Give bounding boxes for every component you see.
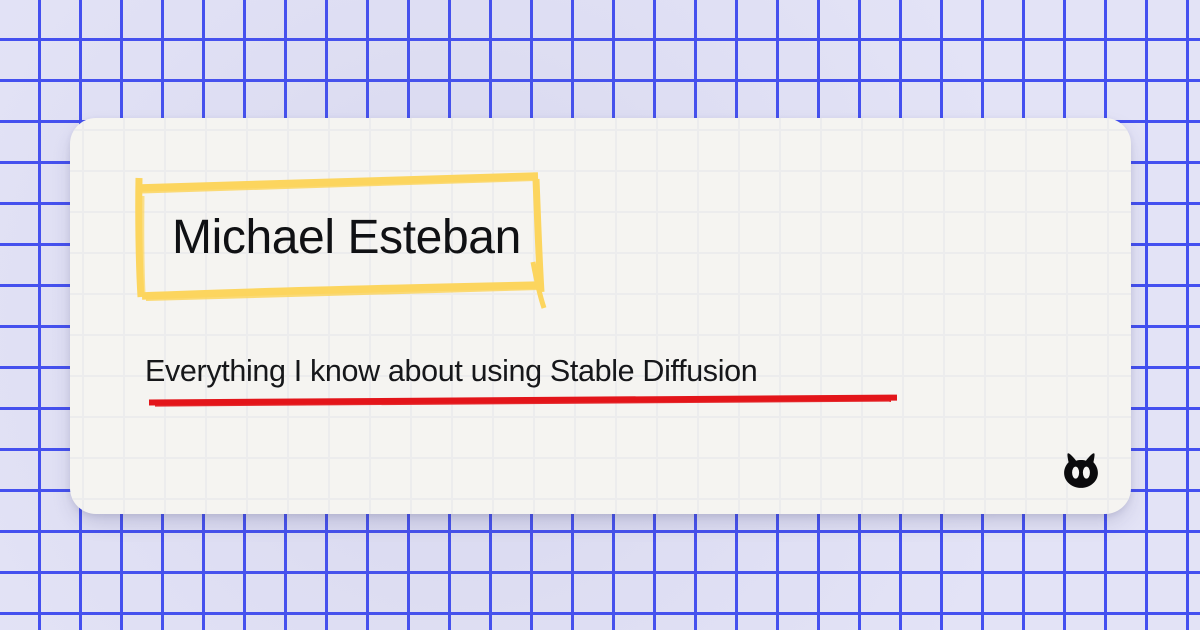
cat-head-icon (1057, 448, 1105, 496)
site-logo (1057, 448, 1105, 496)
content-card: Michael Esteban Everything I know about … (70, 118, 1131, 514)
author-name-block: Michael Esteban (130, 166, 560, 316)
card-content: Michael Esteban Everything I know about … (70, 118, 1131, 514)
hand-drawn-underline-icon (145, 390, 905, 416)
author-name: Michael Esteban (172, 206, 542, 270)
page-title: Everything I know about using Stable Dif… (145, 350, 757, 392)
title-block: Everything I know about using Stable Dif… (145, 350, 975, 422)
